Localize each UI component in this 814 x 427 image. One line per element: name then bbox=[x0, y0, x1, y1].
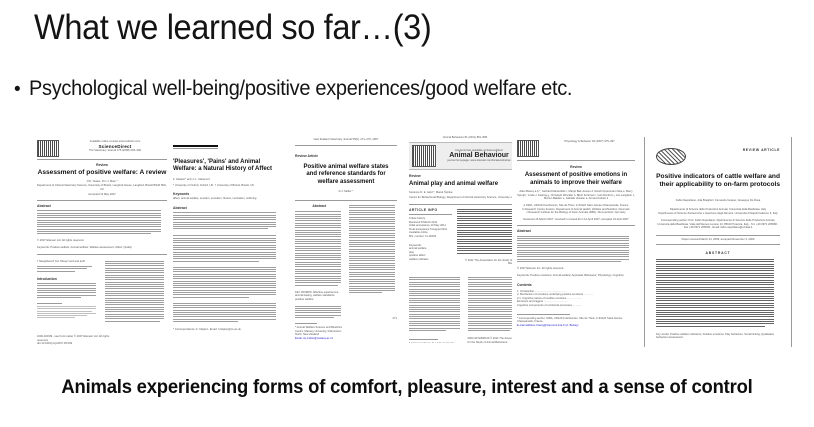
bullet-item: • Psychological well-being/positive expe… bbox=[14, 76, 600, 102]
corresponding-author: * Correspondence: S. Held, Centre for Be… bbox=[409, 342, 463, 343]
paper-authors: Suzanne D. E. Held *, Marek Špinka bbox=[409, 191, 521, 195]
page-right-rule bbox=[791, 137, 792, 347]
paper-authors: J.W. Yeates, D.C.J. Main * bbox=[37, 180, 167, 184]
abstract-body bbox=[295, 211, 344, 286]
keywords-heading: Keywords bbox=[173, 192, 281, 196]
journal-header: New Zealand Veterinary Journal 55(6), 27… bbox=[295, 138, 397, 142]
paper-title: Animal play and animal welfare bbox=[409, 181, 521, 188]
paper-thumbnail-1[interactable]: Available online at www.sciencedirect.co… bbox=[32, 137, 172, 349]
keywords-line: Key words: Positive welfare indicators, … bbox=[656, 333, 780, 340]
journal-homepage: journal homepage: www.elsevier.com/locat… bbox=[440, 159, 518, 163]
bullet-item-label: Psychological well-being/positive experi… bbox=[29, 76, 572, 102]
keywords-line: Keywords: Positive emotions; Animal welf… bbox=[517, 274, 635, 278]
paper-title: Positive animal welfare states and refer… bbox=[299, 164, 393, 186]
introduction-heading: Introduction bbox=[37, 277, 100, 281]
abstract-body bbox=[517, 236, 635, 262]
paper-authors: Fabio Napolitano, Ada Braghieri, Fernand… bbox=[656, 199, 780, 203]
page-title: What we learned so far…(3) bbox=[34, 6, 431, 50]
paper-footer: * Animal Welfare Science and Bioethics C… bbox=[295, 326, 344, 337]
abstract-heading: ABSTRACT bbox=[656, 251, 780, 255]
copyright-line: © 2007 Elsevier Inc. All rights reserved… bbox=[517, 267, 635, 271]
article-type-label: REVIEW ARTICLE bbox=[743, 148, 780, 152]
article-info-items: Article history: Received 8 March 2011 I… bbox=[409, 217, 452, 239]
paper-affiliations: * University of Oxford, Oxford, UK; † Un… bbox=[173, 184, 281, 188]
society-seal-icon bbox=[656, 148, 686, 165]
contents-items: 1. Introduction ........................… bbox=[517, 290, 635, 308]
section-label: Review bbox=[517, 165, 635, 169]
right-column-body bbox=[349, 205, 398, 293]
keywords-line: animal welfare play positive affect welf… bbox=[409, 247, 452, 261]
intro-body bbox=[37, 283, 100, 298]
journal-masthead: Contents lists available at ScienceDirec… bbox=[409, 142, 521, 170]
paper-title: Assessment of positive welfare: A review bbox=[37, 169, 167, 177]
abstract-heading: Abstract bbox=[173, 206, 281, 210]
body-text-3 bbox=[173, 303, 281, 322]
keywords-line: Keywords: Positive welfare; Animal welfa… bbox=[37, 246, 167, 250]
abstract-heading: Abstract bbox=[37, 204, 167, 208]
paper-thumbnail-4[interactable]: Animal Behaviour 81 (2011) 891–899 Conte… bbox=[404, 133, 526, 343]
contents-heading: Contents bbox=[517, 283, 635, 287]
abstract-heading: Abstract bbox=[295, 204, 344, 208]
paper-title: 'Pleasures', 'Pains' and Animal Welfare:… bbox=[173, 159, 281, 174]
section-label: Review Article bbox=[295, 154, 397, 158]
abstract-body bbox=[37, 210, 167, 234]
paper-title: Positive indicators of cattle welfare an… bbox=[656, 173, 780, 189]
journal-citation: Physiology & Behavior 92 (2007) 375–397 bbox=[544, 140, 635, 144]
right-column-body bbox=[105, 261, 168, 322]
paper-affiliations: Centre for Behavioural Biology, Departme… bbox=[409, 196, 521, 200]
paper-thumbnail-3[interactable]: New Zealand Veterinary Journal 55(6), 27… bbox=[290, 135, 402, 350]
elsevier-logo-icon bbox=[37, 140, 59, 157]
abstract-body bbox=[173, 212, 281, 229]
elsevier-logo-icon bbox=[412, 145, 436, 167]
abstract-heading: Abstract bbox=[517, 229, 635, 233]
body-text bbox=[409, 276, 521, 332]
paper-thumbnail-5[interactable]: Physiology & Behavior 92 (2007) 375–397 … bbox=[512, 137, 640, 349]
paper-email: E-mail address: boissy@clermont.inra.fr … bbox=[517, 324, 635, 328]
quote-block: 'I Slaughtered' Our Sheep! and and and! bbox=[37, 260, 100, 264]
body-text-1 bbox=[173, 235, 281, 261]
journal-citation: Animal Behaviour 81 (2011) 891–899 bbox=[409, 136, 521, 140]
corresponding-author: Corresponding author: Prof. Fabio Napoli… bbox=[656, 219, 780, 230]
corresponding-author: * Corresponding author. INRA, UR1213 Her… bbox=[517, 317, 635, 324]
body-after-keywords bbox=[295, 306, 344, 318]
paper-authors: F. Clapton* and J.-L. Clarence† bbox=[173, 178, 281, 182]
body-text-2 bbox=[173, 267, 281, 298]
slide-caption: Animals experiencing forms of comfort, p… bbox=[39, 375, 774, 400]
paper-title: Assessment of positive emotions in anima… bbox=[519, 172, 633, 187]
footnote-line: * Correspondence: F. Clapton. Email: f.c… bbox=[173, 328, 281, 332]
paper-received: Received 16 March 2007; received in revi… bbox=[517, 218, 635, 222]
keywords-line: affect, animal welfare, emotion, evoluti… bbox=[173, 197, 281, 201]
page-number: 271 bbox=[349, 317, 398, 321]
keywords-line: KEY WORDS: Affective experiences, animal… bbox=[295, 291, 344, 302]
intro-heading-lines bbox=[37, 266, 100, 272]
paper-thumbnail-strip: Available online at www.sciencedirect.co… bbox=[0, 133, 814, 353]
elsevier-logo-icon bbox=[517, 140, 539, 157]
paper-received: Accepted 13 May 2007 bbox=[37, 193, 167, 197]
abstract-body bbox=[656, 259, 780, 327]
section-label: Review bbox=[37, 163, 167, 167]
article-info-heading: ARTICLE INFO bbox=[409, 208, 452, 212]
paper-affiliations: Dipartimento di Scienze delle Produzioni… bbox=[656, 208, 780, 215]
presentation-slide: What we learned so far…(3) • Psychologic… bbox=[0, 0, 814, 427]
paper-doi: doi:10.1016/j.tvjl.2007.05.009 bbox=[37, 342, 121, 346]
paper-authors: D.J. Mellor * bbox=[295, 190, 397, 194]
paper-thumbnail-2[interactable]: 'Pleasures', 'Pains' and Animal Welfare:… bbox=[168, 141, 286, 346]
copyright-line: © 2007 Elsevier Ltd. All rights reserved… bbox=[37, 239, 167, 243]
paper-affiliations: a INRA, UR1213 Herbivores, Site de Theix… bbox=[517, 204, 635, 215]
bullet-marker-icon: • bbox=[14, 79, 21, 101]
journal-citation: The Veterinary Journal 175 (2008) 293–30… bbox=[63, 149, 167, 153]
page-left-rule bbox=[644, 137, 645, 347]
paper-affiliation: Department of Clinical Veterinary Scienc… bbox=[37, 184, 167, 191]
paper-authors: Alain Boissy a,b,*, Gerhard Manteuffel c… bbox=[517, 190, 635, 201]
paper-dates: Paper received March 24, 2009; accepted … bbox=[656, 238, 780, 242]
section-label: Review bbox=[409, 174, 521, 178]
footnote-block bbox=[37, 306, 100, 318]
paper-email: Email: d.j.mellor@massey.ac.nz bbox=[295, 337, 344, 341]
paper-thumbnail-6[interactable]: REVIEW ARTICLE Positive indicators of ca… bbox=[644, 137, 792, 347]
